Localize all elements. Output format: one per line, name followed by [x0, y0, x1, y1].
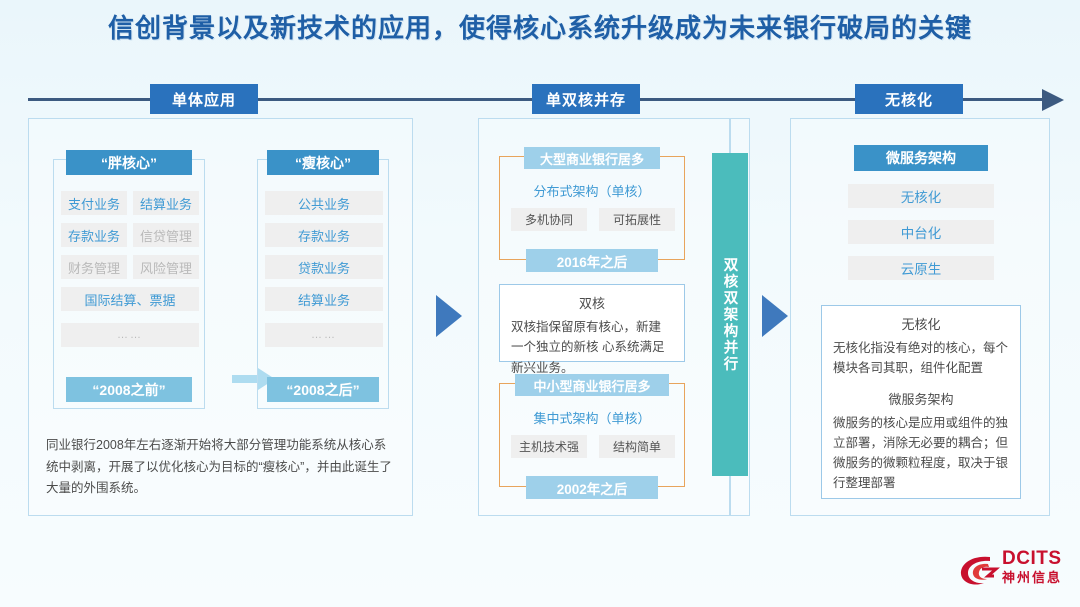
page-title: 信创背景以及新技术的应用，使得核心系统升级成为未来银行破局的关键	[0, 8, 1080, 45]
teal-bar-stub-top	[729, 118, 731, 154]
fat-core-caption-bottom: “2008之前”	[66, 377, 192, 402]
timeline-stage-single-app[interactable]: 单体应用	[150, 84, 258, 114]
timeline-segment-1	[28, 98, 150, 101]
small-bank-chip-0: 主机技术强	[511, 435, 587, 458]
small-bank-subtitle: 集中式架构（单核）	[509, 406, 675, 428]
coreless-detail-body-2: 微服务的核心是应用或组件的独立部署，消除无必要的耦合；但微服务的微颗粒程度，取决…	[833, 416, 1008, 491]
panel-coreless: 微服务架构 无核化 中台化 云原生 无核化 无核化指没有绝对的核心，每个模块各司…	[790, 118, 1050, 516]
timeline-stage-coreless[interactable]: 无核化	[855, 84, 963, 114]
timeline-stage-dual-core[interactable]: 单双核并存	[532, 84, 640, 114]
microservice-head: 微服务架构	[854, 145, 988, 171]
fat-core-item-3: 信贷管理	[133, 223, 199, 247]
panel1-description: 同业银行2008年左右逐渐开始将大部分管理功能系统从核心系统中剥离，开展了以优化…	[46, 435, 396, 500]
fat-core-caption-top: “胖核心”	[66, 150, 192, 175]
dual-core-box: 双核 双核指保留原有核心，新建一个独立的新核 心系统满足新兴业务。	[499, 284, 685, 362]
fat-core-item-4: 财务管理	[61, 255, 127, 279]
thin-core-item-2: 贷款业务	[265, 255, 383, 279]
panel-dual-core-coexist: 大型商业银行居多 分布式架构（单核） 多机协同 可拓展性 2016年之后 双核 …	[478, 118, 750, 516]
small-bank-title: 中小型商业银行居多	[515, 374, 669, 396]
thin-core-caption-bottom: “2008之后”	[267, 377, 379, 402]
dual-core-box-body: 双核指保留原有核心，新建一个独立的新核 心系统满足新兴业务。	[511, 320, 664, 375]
thin-core-item-4: ……	[265, 323, 383, 347]
dual-core-box-title: 双核	[511, 293, 673, 314]
fat-core-item-5: 风险管理	[133, 255, 199, 279]
fat-core-item-6: 国际结算、票据	[61, 287, 199, 311]
large-bank-chip-1: 可拓展性	[599, 208, 675, 231]
thin-core-caption-top: “瘦核心”	[267, 150, 379, 175]
timeline-segment-3	[640, 98, 855, 101]
logo-text-en: DCITS	[1002, 549, 1062, 568]
arrow-panel1-to-panel2-icon	[436, 295, 462, 337]
dual-core-dual-architecture-bar: 双核双架构并行	[712, 153, 748, 476]
timeline-segment-2	[258, 98, 532, 101]
coreless-detail-box: 无核化 无核化指没有绝对的核心，每个模块各司其职，组件化配置 微服务架构 微服务…	[821, 305, 1021, 499]
fat-core-item-2: 存款业务	[61, 223, 127, 247]
fat-core-item-1: 结算业务	[133, 191, 199, 215]
timeline-segment-4	[963, 98, 1045, 101]
coreless-chip-1: 中台化	[848, 220, 994, 244]
timeline-arrowhead-icon	[1042, 89, 1064, 111]
thin-core-item-0: 公共业务	[265, 191, 383, 215]
logo-text-cn: 神州信息	[1002, 570, 1062, 587]
logo-text: DCITS 神州信息	[1002, 549, 1062, 587]
teal-bar-stub-bottom	[729, 476, 731, 516]
coreless-detail-title-1: 无核化	[833, 314, 1009, 335]
timeline: 单体应用 单双核并存 无核化	[0, 84, 1080, 114]
small-bank-year: 2002年之后	[526, 476, 658, 499]
large-bank-title: 大型商业银行居多	[524, 147, 660, 169]
fat-core-item-0: 支付业务	[61, 191, 127, 215]
large-bank-year: 2016年之后	[526, 249, 658, 272]
fat-core-item-7: ……	[61, 323, 199, 347]
coreless-chip-0: 无核化	[848, 184, 994, 208]
large-bank-subtitle: 分布式架构（单核）	[509, 179, 675, 201]
panel-single-application: “胖核心” 支付业务 结算业务 存款业务 信贷管理 财务管理 风险管理 国际结算…	[28, 118, 413, 516]
slide-root: 信创背景以及新技术的应用，使得核心系统升级成为未来银行破局的关键 单体应用 单双…	[0, 0, 1080, 607]
small-bank-chip-1: 结构简单	[599, 435, 675, 458]
thin-core-item-1: 存款业务	[265, 223, 383, 247]
large-bank-chip-0: 多机协同	[511, 208, 587, 231]
dual-core-dual-architecture-label: 双核双架构并行	[720, 257, 741, 373]
arrow-panel2-to-panel3-icon	[762, 295, 788, 337]
coreless-detail-title-2: 微服务架构	[833, 389, 1009, 410]
coreless-detail-body-1: 无核化指没有绝对的核心，每个模块各司其职，组件化配置	[833, 341, 1008, 375]
thin-core-item-3: 结算业务	[265, 287, 383, 311]
coreless-chip-2: 云原生	[848, 256, 994, 280]
